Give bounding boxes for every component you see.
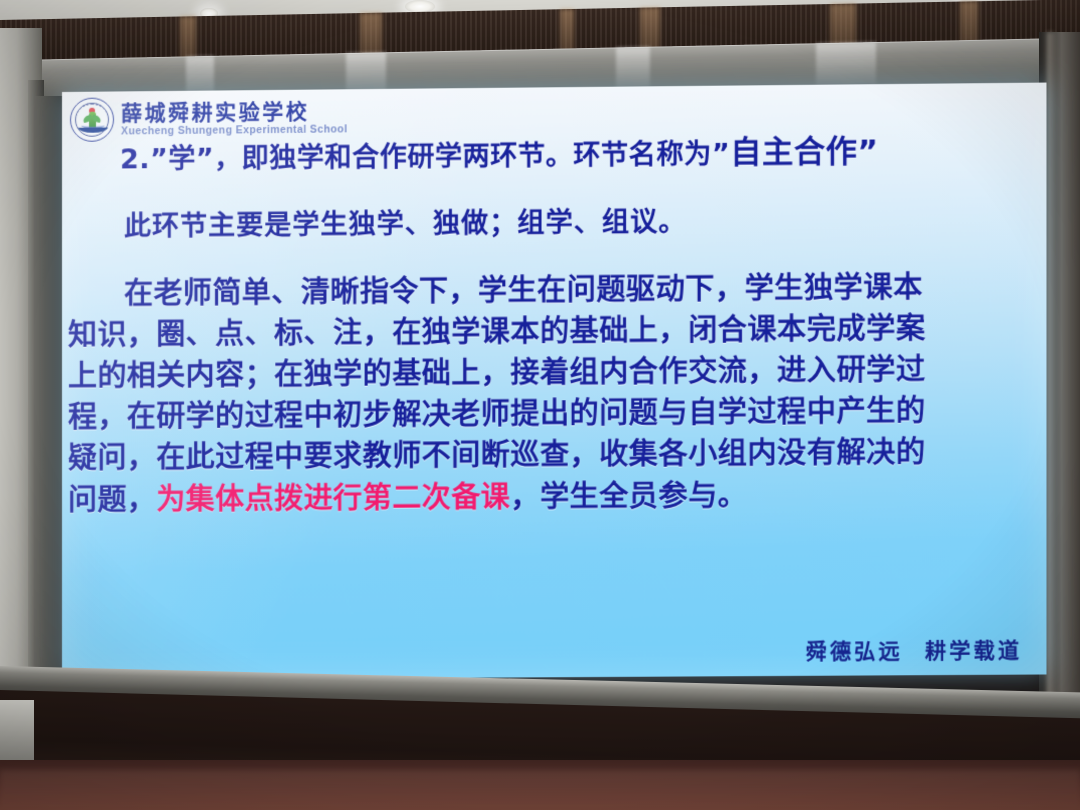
motto-right: 耕学载道 <box>925 637 1022 663</box>
floor-reflection <box>0 770 1080 810</box>
paragraph-line-4: 程，在研学的过程中初步解决老师提出的问题与自学过程中产生的 <box>68 390 1046 439</box>
school-name-block: 薛城舜耕实验学校 Xuecheng Shungeng Experimental … <box>121 100 348 137</box>
paragraph-line-6: 问题，为集体点拨进行第二次备课，学生全员参与。 <box>68 473 1046 521</box>
slide-subtitle: 此环节主要是学生独学、独做；组学、组议。 <box>62 196 1046 244</box>
slide-body: 2.”学”，即独学和合作研学两环节。环节名称为”自主合作” 此环节主要是学生独学… <box>62 131 1046 521</box>
slide-title-emphasis: 自主合作” <box>730 133 878 171</box>
paragraph-highlight: 为集体点拨进行第二次备课 <box>156 479 510 515</box>
paragraph-line-3: 上的相关内容；在独学的基础上，接着组内合作交流，进入研学过 <box>68 348 1046 397</box>
motto-left: 舜德弘远 <box>806 638 903 664</box>
projection-screen[interactable]: 薛城舜耕实验学校 Xuecheng Shungeng Experimental … <box>62 83 1046 680</box>
slide-title: 2.”学”，即独学和合作研学两环节。环节名称为”自主合作” <box>62 131 1046 179</box>
slide-paragraph: 在老师简单、清晰指令下，学生在问题驱动下，学生独学课本 知识，圈、点、标、注，在… <box>62 266 1046 521</box>
paragraph-line-5: 疑问，在此过程中要求教师不间断巡查，收集各小组内没有解决的 <box>68 431 1046 479</box>
school-emblem-icon <box>70 98 114 142</box>
lecture-hall-photo: 薛城舜耕实验学校 Xuecheng Shungeng Experimental … <box>0 0 1080 810</box>
slide-footer-motto: 舜德弘远耕学载道 <box>806 634 1022 665</box>
school-name-cn: 薛城舜耕实验学校 <box>121 100 348 123</box>
slide-title-prefix: 2.”学”，即独学和合作研学两环节。环节名称为” <box>120 139 730 176</box>
school-name-en: Xuecheng Shungeng Experimental School <box>121 124 348 137</box>
paragraph-line-6-post: ，学生全员参与。 <box>510 478 747 514</box>
paragraph-line-6-pre: 问题， <box>68 482 156 517</box>
slide-header: 薛城舜耕实验学校 Xuecheng Shungeng Experimental … <box>70 95 348 142</box>
